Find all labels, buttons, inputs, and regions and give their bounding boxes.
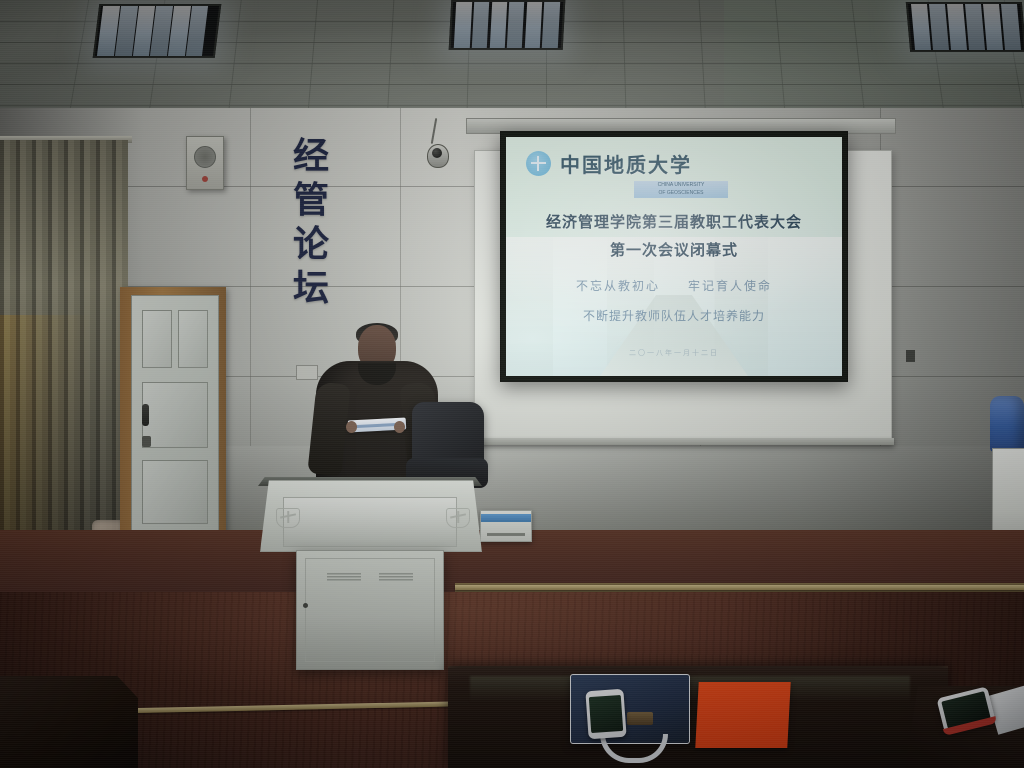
table-reflection [470,676,910,702]
podium-front-panel [283,497,457,547]
projected-slide: 中国地质大学 CHINA UNIVERSITY OF GEOSCIENCES 经… [506,137,842,376]
person-left-hand [346,421,357,433]
second-smartphone-screen[interactable] [941,691,990,729]
speaker-led-icon [202,176,208,182]
podium-emblem-left-icon [276,508,300,528]
slide-title-line2: 第一次会议闭幕式 [506,239,842,260]
equipment-box [480,510,532,542]
university-logo-icon [526,151,551,176]
slide-date: 二〇一八年一月十二日 [506,348,842,358]
smartphone-screen[interactable] [589,695,623,733]
wall-camera [425,140,449,170]
slide-title-line1: 经济管理学院第三届教职工代表大会 [506,211,842,232]
university-name-english-line1: CHINA UNIVERSITY [658,182,705,190]
podium-base-cabinet [296,550,444,670]
speaker-grille-icon [194,146,216,168]
white-smartphone[interactable] [585,689,626,740]
camera-lens-icon [432,148,442,158]
university-name: 中国地质大学 [560,149,692,178]
whiteboard-tray [474,438,894,445]
wall-switch-right [906,350,915,362]
calligraphy-char-3: 论 [293,223,329,267]
slide-brand: 中国地质大学 [526,149,692,178]
door[interactable] [131,295,219,537]
wall-calligraphy: 经 管 论 坛 [280,135,342,311]
door-frame [120,287,226,535]
stage-brass-trim [455,585,1024,590]
ceiling [0,0,1024,120]
door-lock-icon[interactable] [142,436,151,447]
wall-speaker [186,136,224,190]
calligraphy-char-2: 管 [293,179,329,223]
foreground-table-left [0,676,138,768]
podium-vent-right [379,573,413,582]
equipment-box-label [481,514,531,522]
calligraphy-char-1: 经 [293,135,329,179]
university-name-english: CHINA UNIVERSITY OF GEOSCIENCES [634,181,728,198]
podium-vent-left [327,573,361,582]
person-right-hand [394,421,405,433]
university-name-english-line2: OF GEOSCIENCES [658,190,703,198]
equipment-box-slot [487,533,525,536]
podium-base-panel [305,558,435,662]
slide-slogan-line2: 不断提升教师队伍人才培养能力 [506,307,842,324]
water-cooler-bottle [990,396,1024,452]
red-envelope[interactable] [695,682,790,748]
door-handle-icon[interactable] [142,404,149,426]
podium-base-latch[interactable] [303,603,308,608]
slide-slogan-line1: 不忘从教初心 牢记育人使命 [506,277,842,294]
ceiling-shading [0,0,1024,120]
document-bag-tag [627,712,653,725]
curtain-shading [0,140,128,555]
conference-room-photo: 经 管 论 坛 中国地质大学 CHINA UNIVERSITY [0,0,1024,768]
projection-screen[interactable]: 中国地质大学 CHINA UNIVERSITY OF GEOSCIENCES 经… [500,131,848,382]
podium-emblem-right-icon [446,508,470,528]
calligraphy-char-4: 坛 [293,267,329,311]
